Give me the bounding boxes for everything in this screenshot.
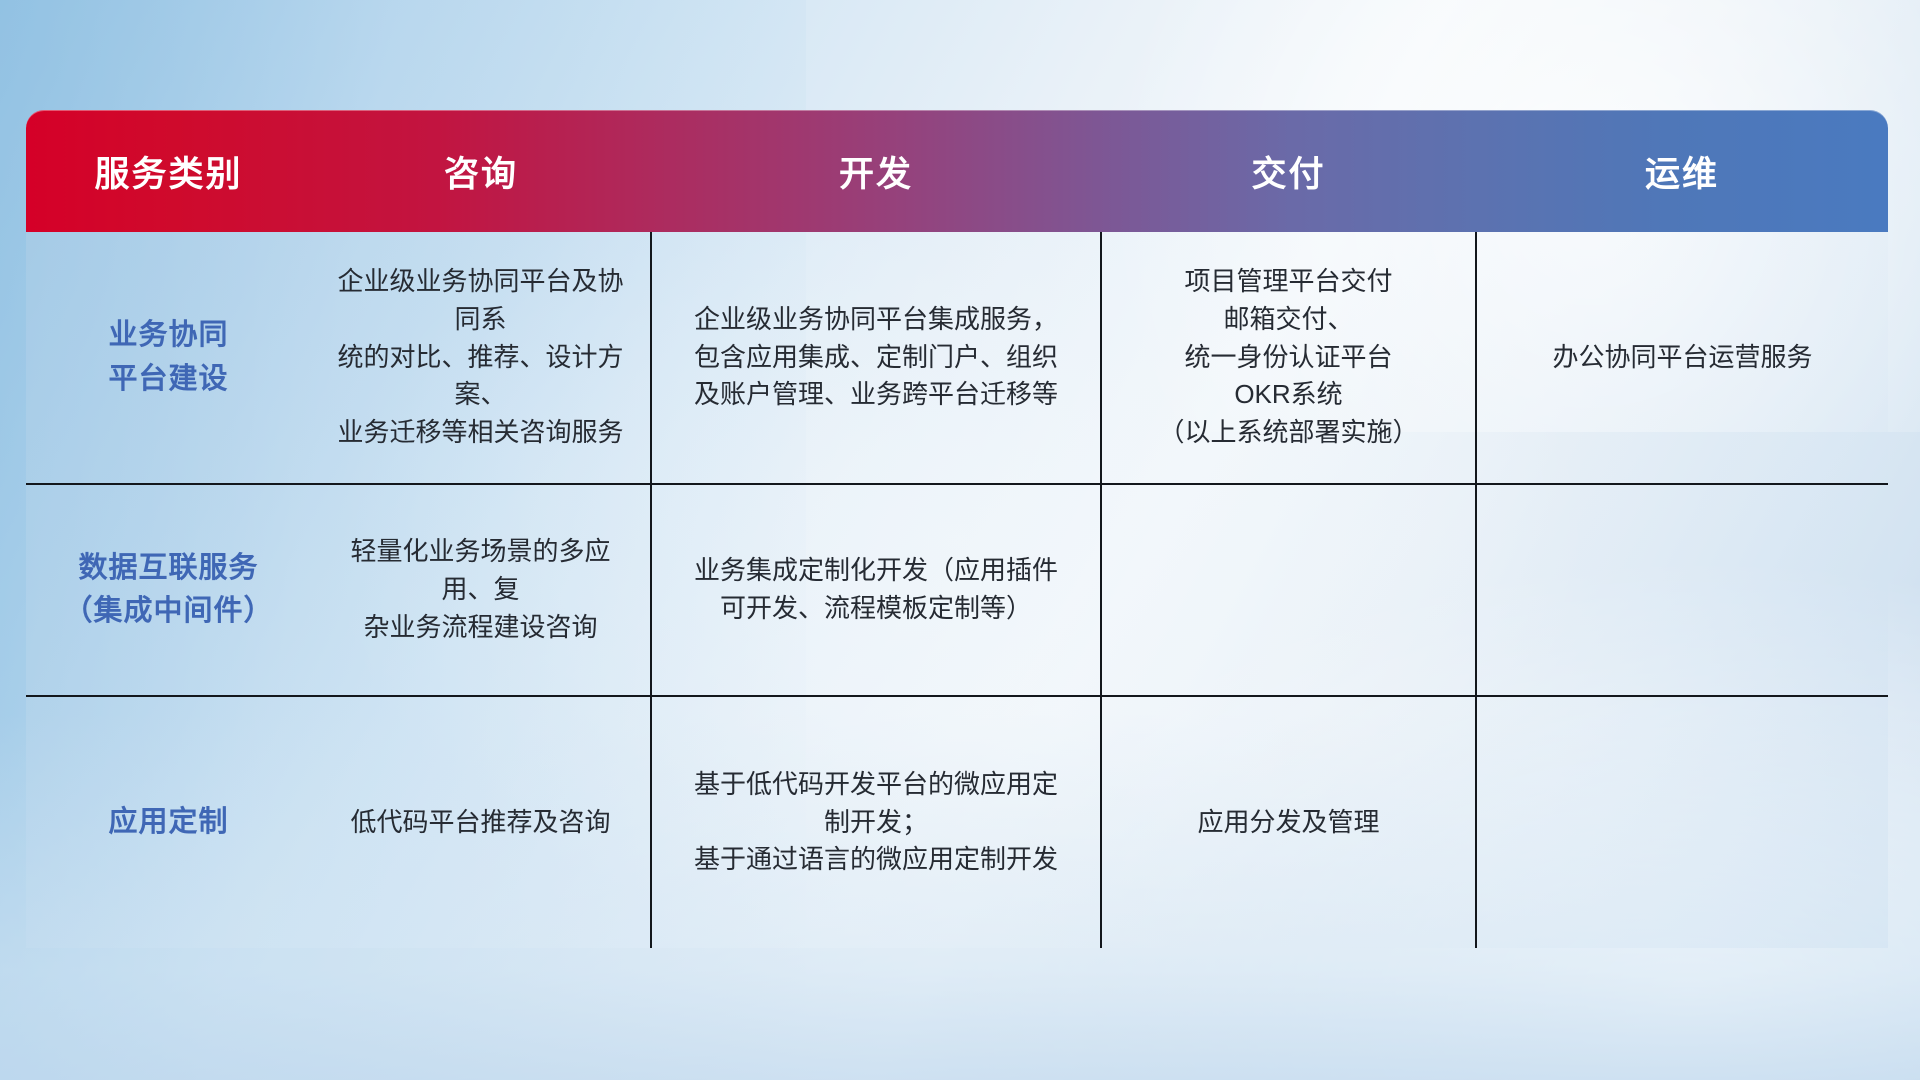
column-header-category-label: 服务类别 bbox=[26, 146, 311, 197]
cell-development: 企业级业务协同平台集成服务， 包含应用集成、定制门户、组织 及账户管理、业务跨平… bbox=[651, 232, 1101, 484]
cell-consulting-text: 轻量化业务场景的多应用、复 杂业务流程建设咨询 bbox=[329, 533, 632, 646]
cell-operations: 办公协同平台运营服务 bbox=[1476, 232, 1888, 484]
row-category-cell: 业务协同 平台建设 bbox=[26, 232, 311, 484]
cell-delivery-text: 项目管理平台交付 邮箱交付、 统一身份认证平台 OKR系统 （以上系统部署实施） bbox=[1120, 263, 1457, 451]
column-header-consulting: 咨询 bbox=[311, 110, 651, 232]
cell-consulting-text: 低代码平台推荐及咨询 bbox=[329, 804, 632, 842]
cell-development: 基于低代码开发平台的微应用定 制开发； 基于通过语言的微应用定制开发 bbox=[651, 696, 1101, 948]
cell-development: 业务集成定制化开发（应用插件 可开发、流程模板定制等） bbox=[651, 484, 1101, 696]
column-header-operations-label: 运维 bbox=[1476, 146, 1888, 197]
row-category-cell: 数据互联服务 （集成中间件） bbox=[26, 484, 311, 696]
cell-consulting: 低代码平台推荐及咨询 bbox=[311, 696, 651, 948]
column-header-delivery-label: 交付 bbox=[1101, 146, 1476, 197]
cell-delivery: 项目管理平台交付 邮箱交付、 统一身份认证平台 OKR系统 （以上系统部署实施） bbox=[1101, 232, 1476, 484]
column-header-delivery: 交付 bbox=[1101, 110, 1476, 232]
cell-delivery bbox=[1101, 484, 1476, 696]
cell-consulting: 轻量化业务场景的多应用、复 杂业务流程建设咨询 bbox=[311, 484, 651, 696]
cell-operations-text: 办公协同平台运营服务 bbox=[1495, 339, 1870, 377]
row-category-label: 业务协同 平台建设 bbox=[44, 314, 293, 401]
service-matrix-table-container: 服务类别 咨询 开发 交付 运维 业务协同 平台建设 bbox=[26, 110, 1888, 950]
table-row: 业务协同 平台建设 企业级业务协同平台及协同系 统的对比、推荐、设计方案、 业务… bbox=[26, 232, 1888, 484]
column-header-category: 服务类别 bbox=[26, 110, 311, 232]
column-header-consulting-label: 咨询 bbox=[311, 146, 651, 197]
row-category-label: 数据互联服务 （集成中间件） bbox=[44, 547, 293, 634]
row-category-label: 应用定制 bbox=[44, 801, 293, 845]
cell-operations bbox=[1476, 484, 1888, 696]
cell-consulting-text: 企业级业务协同平台及协同系 统的对比、推荐、设计方案、 业务迁移等相关咨询服务 bbox=[329, 263, 632, 451]
cell-consulting: 企业级业务协同平台及协同系 统的对比、推荐、设计方案、 业务迁移等相关咨询服务 bbox=[311, 232, 651, 484]
table-header: 服务类别 咨询 开发 交付 运维 bbox=[26, 110, 1888, 232]
table-body: 业务协同 平台建设 企业级业务协同平台及协同系 统的对比、推荐、设计方案、 业务… bbox=[26, 232, 1888, 948]
cell-delivery: 应用分发及管理 bbox=[1101, 696, 1476, 948]
cell-development-text: 业务集成定制化开发（应用插件 可开发、流程模板定制等） bbox=[670, 552, 1082, 627]
cell-development-text: 基于低代码开发平台的微应用定 制开发； 基于通过语言的微应用定制开发 bbox=[670, 766, 1082, 879]
table-header-row: 服务类别 咨询 开发 交付 运维 bbox=[26, 110, 1888, 232]
column-header-development: 开发 bbox=[651, 110, 1101, 232]
table-row: 数据互联服务 （集成中间件） 轻量化业务场景的多应用、复 杂业务流程建设咨询 业… bbox=[26, 484, 1888, 696]
service-matrix-table: 服务类别 咨询 开发 交付 运维 业务协同 平台建设 bbox=[26, 110, 1888, 948]
table-row: 应用定制 低代码平台推荐及咨询 基于低代码开发平台的微应用定 制开发； 基于通过… bbox=[26, 696, 1888, 948]
cell-development-text: 企业级业务协同平台集成服务， 包含应用集成、定制门户、组织 及账户管理、业务跨平… bbox=[670, 301, 1082, 414]
column-header-operations: 运维 bbox=[1476, 110, 1888, 232]
cell-operations bbox=[1476, 696, 1888, 948]
column-header-development-label: 开发 bbox=[651, 146, 1101, 197]
cell-delivery-text: 应用分发及管理 bbox=[1120, 804, 1457, 842]
row-category-cell: 应用定制 bbox=[26, 696, 311, 948]
